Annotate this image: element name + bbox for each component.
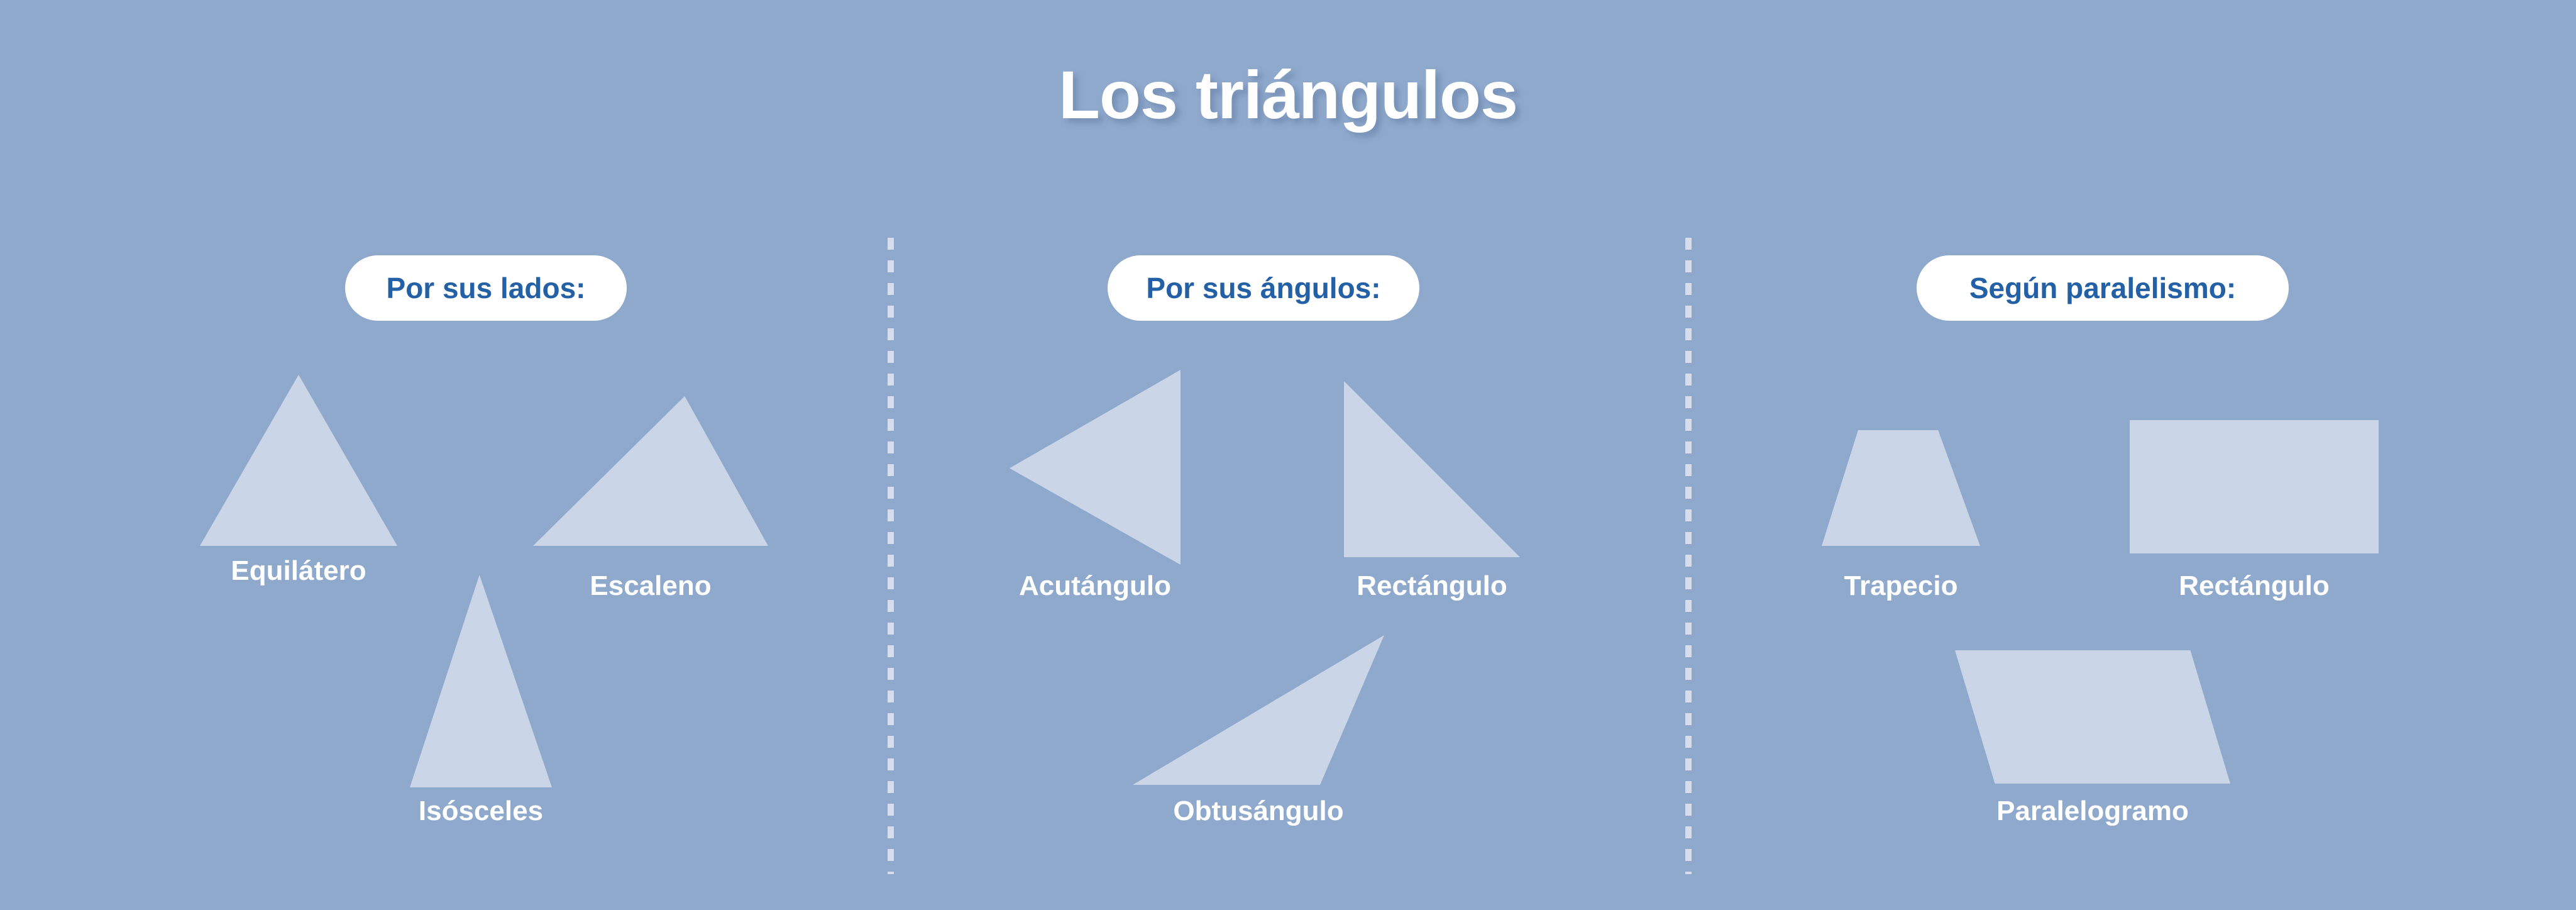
shape-label-trapecio: Trapecio bbox=[1802, 570, 2000, 602]
isosceles-triangle-shape bbox=[410, 575, 552, 787]
page-title: Los triángulos bbox=[0, 55, 2576, 134]
scalene-triangle-shape bbox=[533, 396, 768, 546]
shape-label-acutangulo: Acutángulo bbox=[984, 570, 1206, 602]
column-heading-por-sus-angulos: Por sus ángulos: bbox=[1108, 255, 1419, 321]
shape-label-paralelogramo: Paralelogramo bbox=[1946, 796, 2239, 827]
acute-triangle-shape bbox=[1010, 370, 1181, 565]
shape-label-obtusangulo: Obtusángulo bbox=[1101, 796, 1416, 827]
obtuse-triangle-shape bbox=[1133, 635, 1384, 785]
column-divider-1 bbox=[888, 238, 894, 874]
rectangle-shape bbox=[2130, 420, 2379, 553]
shape-label-isosceles: Isósceles bbox=[387, 796, 575, 827]
parallelogram-shape bbox=[1955, 650, 2230, 784]
column-divider-2 bbox=[1685, 238, 1692, 874]
triangles-infographic: Los triángulos Por sus lados: Por sus án… bbox=[0, 0, 2576, 910]
shape-label-escaleno: Escaleno bbox=[533, 570, 768, 602]
right-triangle-shape bbox=[1344, 381, 1520, 557]
shape-label-rectangulo-triangle: Rectángulo bbox=[1319, 570, 1545, 602]
column-heading-segun-paralelismo: Según paralelismo: bbox=[1917, 255, 2289, 321]
shape-label-rectangulo-quadrilateral: Rectángulo bbox=[2128, 570, 2380, 602]
trapezoid-shape bbox=[1822, 430, 1980, 546]
equilateral-triangle-shape bbox=[200, 375, 397, 546]
shape-label-equilatero: Equilátero bbox=[200, 555, 397, 587]
column-heading-por-sus-lados: Por sus lados: bbox=[345, 255, 627, 321]
